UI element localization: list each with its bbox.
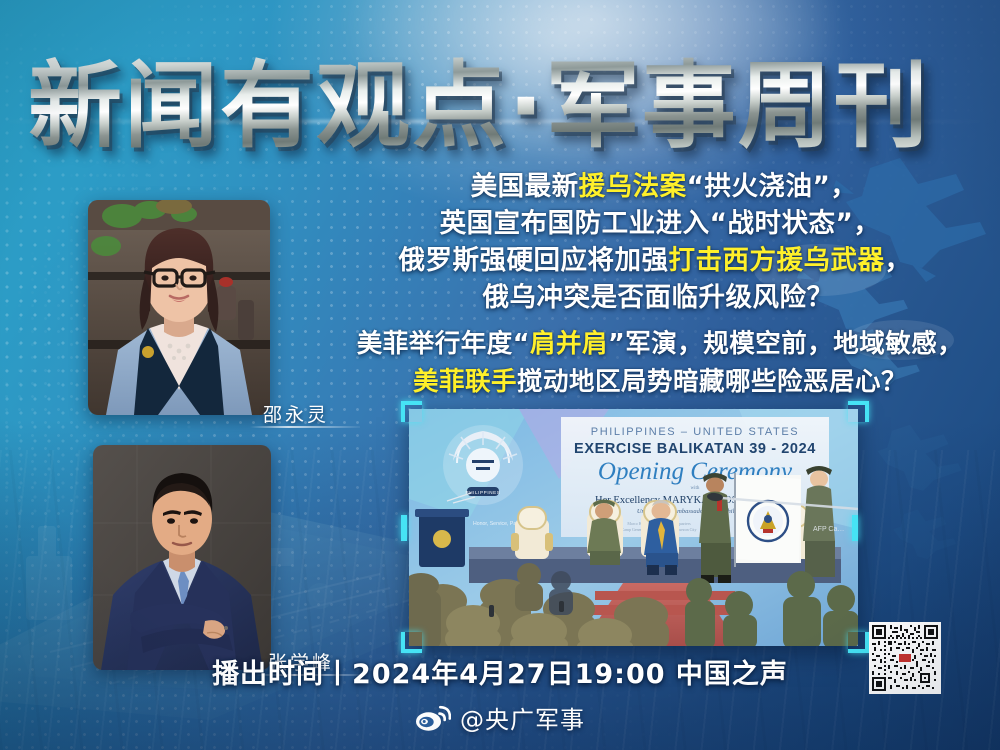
- headline-highlight: 美菲联手: [413, 367, 517, 397]
- headline-block-ukraine: 美国最新援乌法案“拱火浇油”， 英国宣布国防工业进入“战时状态”， 俄罗斯强硬回…: [330, 168, 980, 316]
- headline-line: 英国宣布国防工业进入“战时状态”，: [330, 205, 980, 242]
- photo-edge-marker-right: [852, 515, 858, 541]
- svg-text:with: with: [691, 486, 700, 491]
- headline-highlight: 肩并肩: [530, 329, 608, 359]
- news-photo-balikatan: PHILIPPINES – UNITED STATES EXERCISE BAL…: [409, 409, 858, 646]
- headline-line: 俄罗斯强硬回应将加强打击西方援乌武器，: [330, 242, 980, 279]
- headline-text: 美菲举行年度“: [357, 329, 530, 359]
- headline-text: ，: [885, 245, 912, 276]
- photo-corner-bracket-tr: [848, 401, 869, 422]
- broadcast-time: 播出时间丨2024年4月27日19:00 中国之声: [0, 652, 1000, 691]
- svg-text:AFP Ca…: AFP Ca…: [813, 526, 844, 533]
- qr-code-image: [872, 625, 938, 691]
- poster-root: 新闻有观点·军事周刊 美国最新援乌法案“拱火浇油”， 英国宣布国防工业进入“战时…: [0, 0, 1000, 750]
- headline-text: 英国宣布国防工业进入“战时状态”，: [440, 208, 881, 239]
- weibo-handle-text: @央广军事: [460, 700, 585, 735]
- photo-corner-bracket-br: [848, 632, 869, 653]
- headline-block-balikatan: 美菲举行年度“肩并肩”军演，规模空前，地域敏感， 美菲联手搅动地区局势暗藏哪些险…: [330, 325, 990, 401]
- headline-text: “拱火浇油”，: [687, 171, 858, 202]
- headline-text: 美国最新: [471, 171, 579, 202]
- guest-name-underline: [250, 426, 360, 428]
- program-title-wrap: 新闻有观点·军事周刊: [28, 48, 968, 168]
- headline-line: 美菲联手搅动地区局势暗藏哪些险恶居心？: [330, 363, 990, 401]
- guest-name-shaoyongling: 邵永灵: [263, 400, 329, 427]
- headline-line: 美菲举行年度“肩并肩”军演，规模空前，地域敏感，: [330, 325, 990, 363]
- headline-text: 俄乌冲突是否面临升级风险？: [483, 282, 834, 313]
- qr-code[interactable]: [869, 622, 941, 694]
- photo-corner-bracket-bl: [401, 632, 422, 653]
- headline-text: ”军演，规模空前，地域敏感，: [608, 329, 963, 359]
- photo-edge-marker-left: [401, 515, 407, 541]
- social-handle-row: @央广军事: [0, 700, 1000, 735]
- svg-text:PHILIPPINES – UNITED STATES: PHILIPPINES – UNITED STATES: [591, 426, 799, 438]
- headline-line: 美国最新援乌法案“拱火浇油”，: [330, 168, 980, 205]
- photo-corner-bracket-tl: [401, 401, 422, 422]
- svg-text:EXERCISE BALIKATAN 39 - 2024: EXERCISE BALIKATAN 39 - 2024: [574, 441, 816, 457]
- headline-highlight: 打击西方援乌武器: [669, 245, 885, 276]
- page-title: 新闻有观点·军事周刊: [28, 48, 968, 166]
- guest-photo-zhangxuefeng: [93, 445, 271, 670]
- headline-line: 俄乌冲突是否面临升级风险？: [330, 279, 980, 316]
- guest-photo-shaoyongling: [88, 200, 270, 415]
- headline-text: 搅动地区局势暗藏哪些险恶居心？: [517, 367, 907, 397]
- weibo-icon: [415, 704, 451, 732]
- headline-text: 俄罗斯强硬回应将加强: [399, 245, 669, 276]
- headline-highlight: 援乌法案: [579, 171, 687, 202]
